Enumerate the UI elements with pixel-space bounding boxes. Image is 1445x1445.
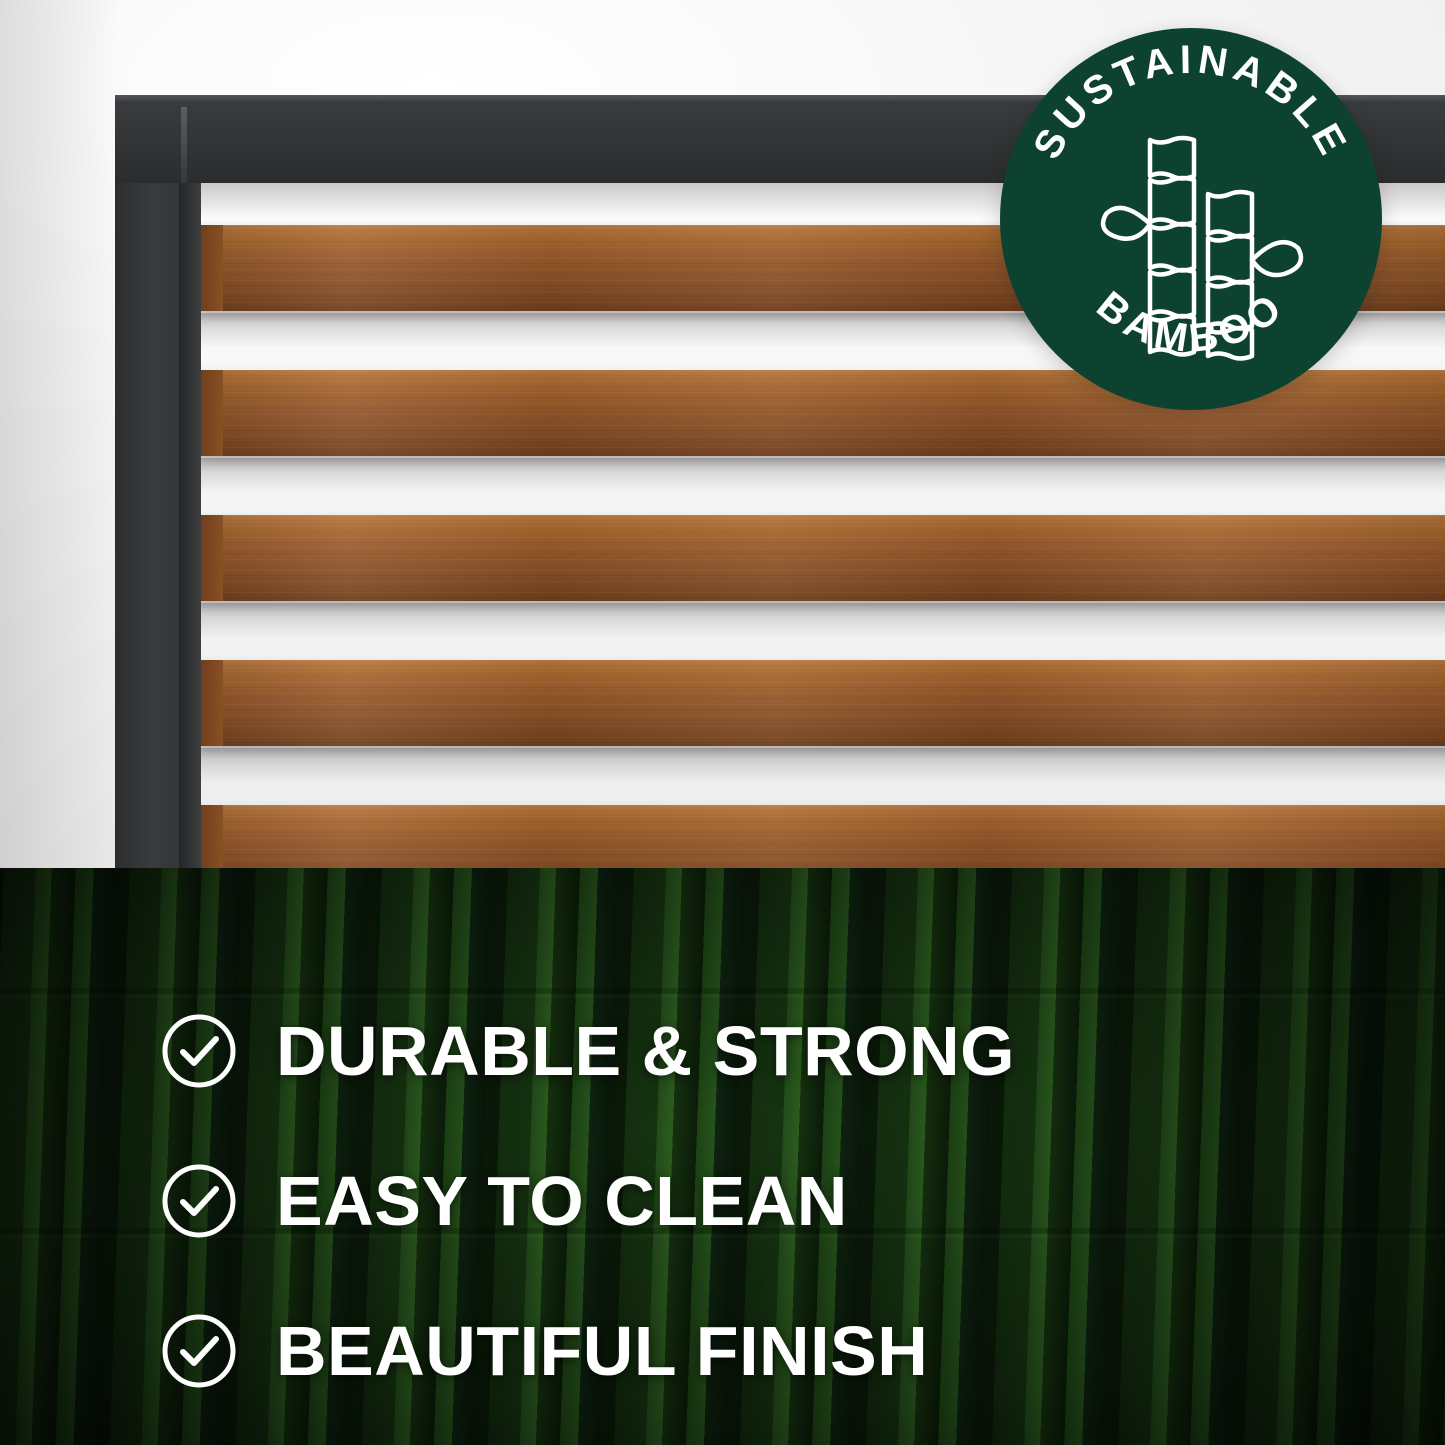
feature-label: EASY TO CLEAN — [276, 1166, 848, 1236]
bamboo-slat — [197, 515, 1445, 601]
frame-corner-highlight — [181, 107, 187, 183]
slat-gap-shadow — [197, 603, 1445, 653]
check-circle-icon — [160, 1012, 238, 1090]
bamboo-slat — [197, 805, 1445, 868]
check-circle-icon — [160, 1162, 238, 1240]
bamboo-slat — [197, 660, 1445, 746]
feature-item: DURABLE & STRONG — [160, 976, 1385, 1126]
svg-text:BAMBOO: BAMBOO — [1088, 283, 1293, 361]
feature-list: DURABLE & STRONG EASY TO CLEAN — [160, 976, 1385, 1426]
check-circle-icon — [160, 1312, 238, 1390]
product-photo: SUSTAINABLE BAMBOO — [0, 0, 1445, 868]
svg-text:SUSTAINABLE: SUSTAINABLE — [1025, 38, 1357, 167]
feature-label: BEAUTIFUL FINISH — [276, 1316, 928, 1386]
feature-item: BEAUTIFUL FINISH — [160, 1276, 1385, 1426]
wall-shadow — [0, 0, 120, 868]
slat-gap-shadow — [197, 458, 1445, 508]
badge-bottom-text: BAMBOO — [1088, 283, 1293, 361]
frame-left-inner-edge — [179, 183, 201, 868]
badge-top-text: SUSTAINABLE — [1025, 38, 1357, 167]
feature-label: DURABLE & STRONG — [276, 1016, 1015, 1086]
product-infographic: SUSTAINABLE BAMBOO — [0, 0, 1445, 1445]
feature-item: EASY TO CLEAN — [160, 1126, 1385, 1276]
features-panel: DURABLE & STRONG EASY TO CLEAN — [0, 868, 1445, 1445]
sustainable-bamboo-badge: SUSTAINABLE BAMBOO — [1000, 28, 1382, 410]
slat-gap-shadow — [197, 748, 1445, 798]
